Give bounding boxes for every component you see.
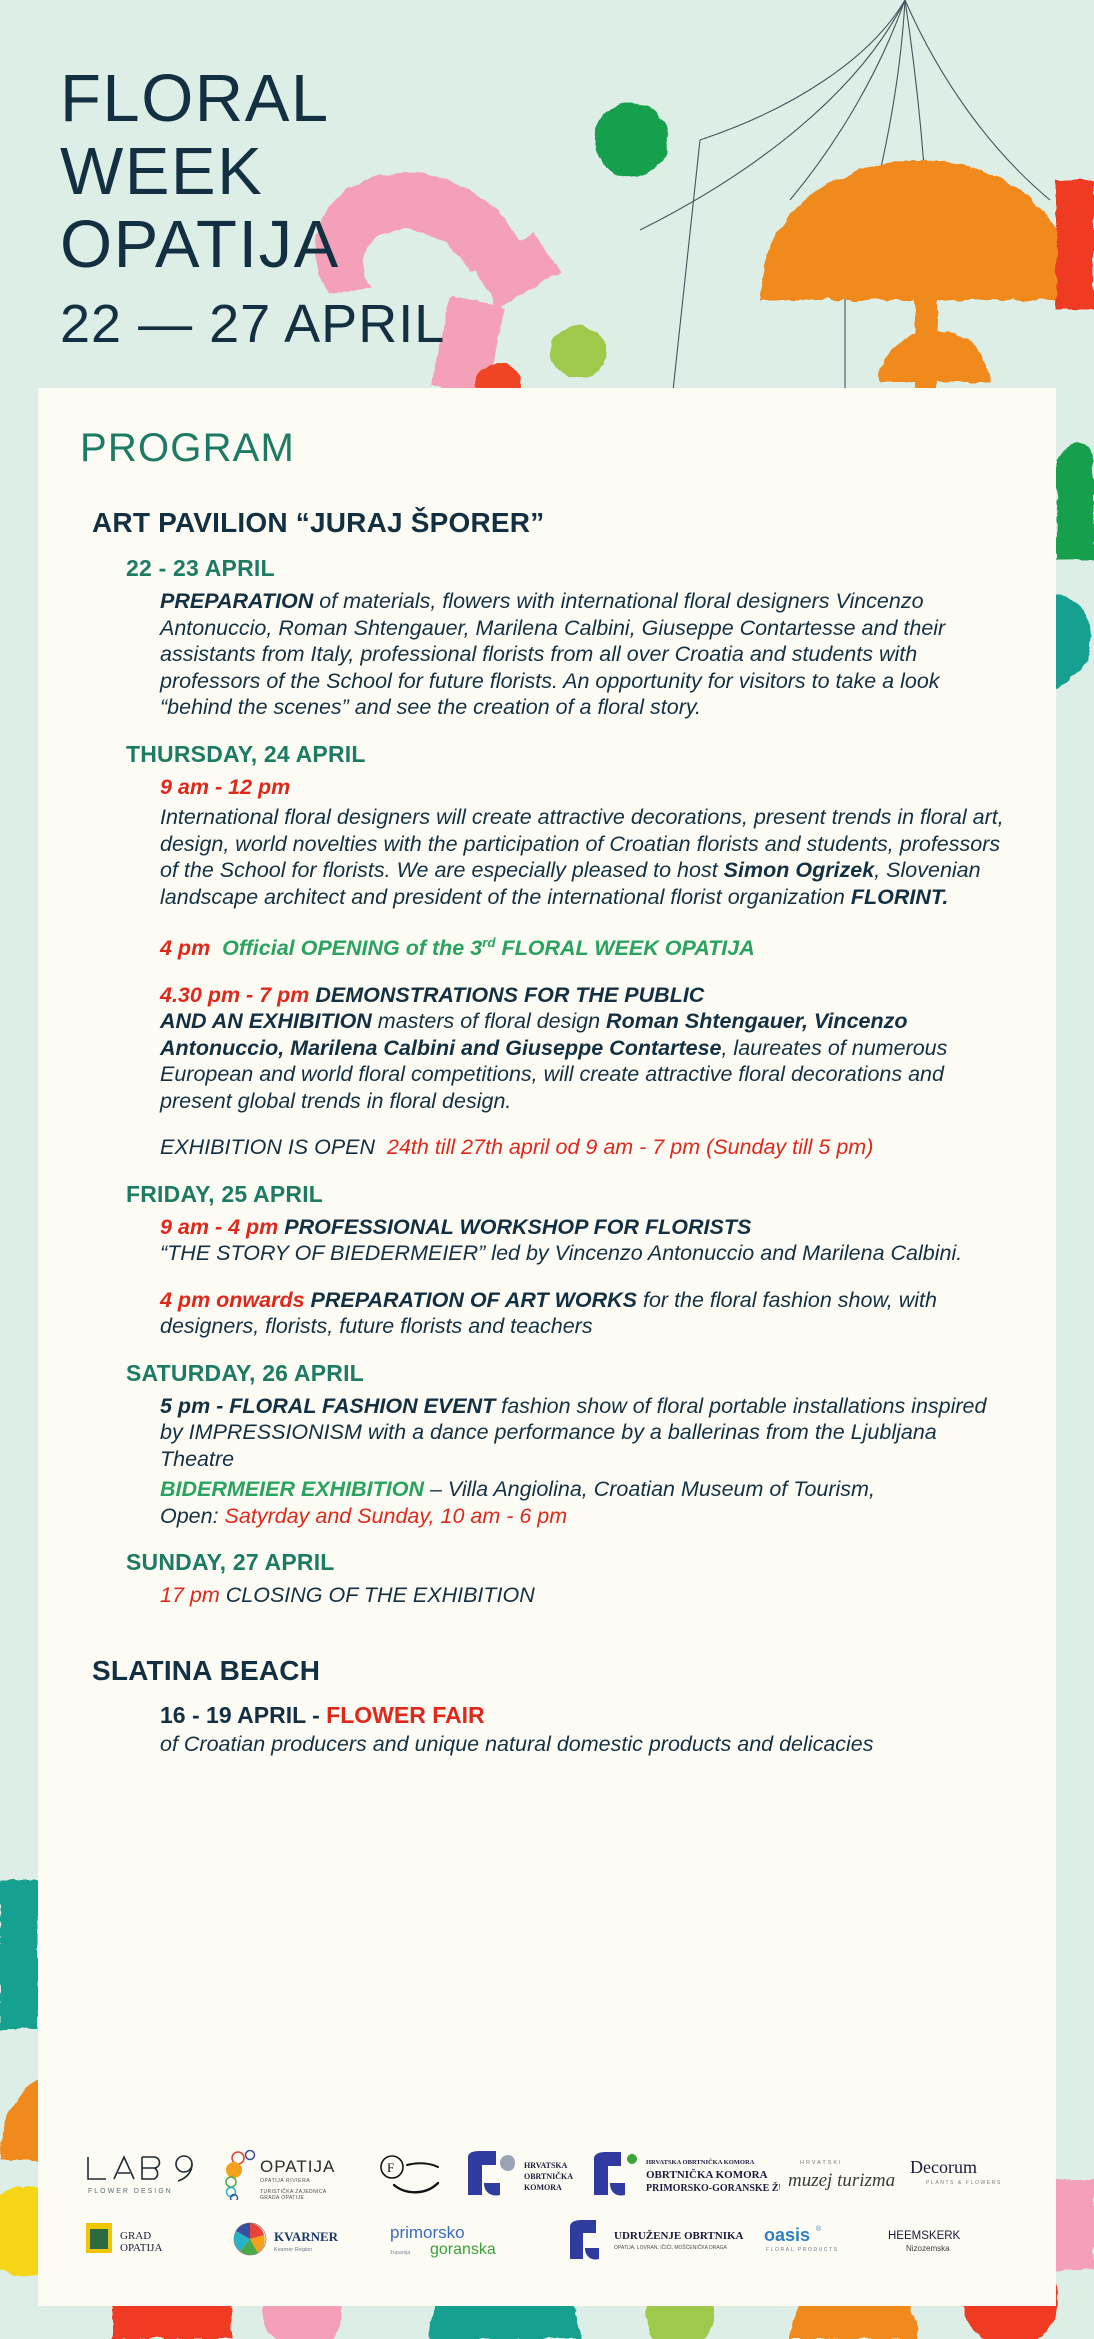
svg-text:goranska: goranska: [430, 2241, 496, 2258]
bidermeier-label: BIDERMEIER EXHIBITION: [160, 1477, 424, 1501]
svg-text:Decorum: Decorum: [910, 2157, 977, 2177]
sponsor-logos: FLOWER DESIGN OPATIJA OPATIJA RIVIERA TU…: [80, 2148, 1014, 2280]
svg-text:OBRTNIČKA KOMORA: OBRTNIČKA KOMORA: [646, 2168, 768, 2181]
svg-text:HRVATSKA: HRVATSKA: [524, 2161, 568, 2170]
svg-text:HRVATSKI: HRVATSKI: [800, 2160, 843, 2166]
opatija-tourist-board-logo: OPATIJA OPATIJA RIVIERA TURISTIČKA ZAJED…: [222, 2149, 372, 2199]
grad-opatija-logo: GRAD OPATIJA: [80, 2215, 228, 2265]
day-group-saturday: SATURDAY, 26 APRIL 5 pm - FLORAL FASHION…: [126, 1360, 1014, 1530]
svg-text:OPATIJA: OPATIJA: [260, 2157, 335, 2176]
udruzenje-obrtnika-logo: UDRUŽENJE OBRTNIKA OPATIJA, LOVRAN, IČIĆ…: [564, 2215, 760, 2265]
day-label-friday: FRIDAY, 25 APRIL: [126, 1181, 1014, 1208]
svg-text:HRVATSKA OBRTNIČKA KOMORA: HRVATSKA OBRTNIČKA KOMORA: [646, 2158, 755, 2166]
svg-text:GRAD: GRAD: [120, 2230, 151, 2242]
friday-preparation: 4 pm onwards PREPARATION OF ART WORKS fo…: [160, 1287, 1014, 1340]
thursday-guest-name: Simon Ogrizek: [724, 858, 875, 882]
bidermeier-open-label: Open:: [160, 1504, 225, 1528]
opening-ordinal: rd: [482, 935, 495, 950]
svg-text:oasis: oasis: [764, 2225, 810, 2245]
friday-workshop: 9 am - 4 pm PROFESSIONAL WORKSHOP FOR FL…: [160, 1214, 1014, 1267]
svg-text:TURISTIČKA ZAJEDNICA: TURISTIČKA ZAJEDNICA: [260, 2188, 327, 2195]
svg-text:županija: županija: [390, 2250, 411, 2256]
flower-fair-dates: 16 - 19 APRIL -: [160, 1702, 326, 1728]
bidermeier-open-times: Satyrday and Sunday, 10 am - 6 pm: [225, 1504, 568, 1528]
day-group-thursday: THURSDAY, 24 APRIL 9 am - 12 pm Internat…: [126, 741, 1014, 1161]
saturday-fashion-event: 5 pm - FLORAL FASHION EVENT fashion show…: [160, 1393, 1014, 1473]
oasis-floral-products-logo: oasis ® FLORAL PRODUCTS: [760, 2215, 884, 2265]
primorsko-goranska-zupanija-logo: primorsko županija goranska: [386, 2215, 564, 2265]
svg-text:KVARNER: KVARNER: [274, 2229, 339, 2244]
decorum-logo: Decorum PLANTS & FLOWERS: [908, 2149, 1028, 2199]
svg-text:muzej turizma: muzej turizma: [788, 2170, 895, 2191]
day-label-22-23-april: 22 - 23 APRIL: [126, 555, 1014, 582]
svg-text:PRIMORSKO-GORANSKE ŽUPANIJE: PRIMORSKO-GORANSKE ŽUPANIJE: [646, 2182, 780, 2194]
day-group-friday: FRIDAY, 25 APRIL 9 am - 4 pm PROFESSIONA…: [126, 1181, 1014, 1340]
opening-text-a: Official OPENING of the 3: [222, 936, 482, 960]
svg-text:PLANTS & FLOWERS: PLANTS & FLOWERS: [926, 2180, 1002, 2186]
day-label-sunday: SUNDAY, 27 APRIL: [126, 1549, 1014, 1576]
svg-text:FLORAL PRODUCTS: FLORAL PRODUCTS: [766, 2247, 839, 2253]
svg-text:Kvarner Region: Kvarner Region: [274, 2247, 312, 2253]
kvarner-logo: KVARNER Kvarner Region: [228, 2215, 386, 2265]
friday-preparation-title: PREPARATION OF ART WORKS: [311, 1288, 637, 1312]
svg-text:F: F: [387, 2160, 394, 2175]
demo-title: DEMONSTRATIONS FOR THE PUBLIC: [315, 983, 704, 1007]
svg-text:UDRUŽENJE OBRTNIKA: UDRUŽENJE OBRTNIKA: [614, 2230, 744, 2242]
obrtnicka-komora-pgz-logo: HRVATSKA OBRTNIČKA KOMORA OBRTNIČKA KOMO…: [588, 2149, 780, 2199]
logo-row-1: FLOWER DESIGN OPATIJA OPATIJA RIVIERA TU…: [80, 2148, 1014, 2200]
opening-text-b: FLORAL WEEK OPATIJA: [496, 936, 755, 960]
hrvatski-muzej-turizma-logo: HRVATSKI muzej turizma: [780, 2149, 908, 2199]
svg-text:FLOWER DESIGN: FLOWER DESIGN: [88, 2188, 173, 2195]
thursday-opening-line: 4 pm Official OPENING of the 3rd FLORAL …: [160, 930, 1014, 962]
poster-root: FLORAL WEEK OPATIJA 22 — 27 APRIL PROGRA…: [0, 0, 1094, 2339]
fashion-event-title: 5 pm - FLORAL FASHION EVENT: [160, 1394, 495, 1418]
demo-mid: masters of floral design: [372, 1009, 606, 1033]
demo-title-2: AND AN EXHIBITION: [160, 1009, 372, 1033]
flower-fair-headline: 16 - 19 APRIL - FLOWER FAIR: [160, 1701, 1014, 1729]
program-heading: PROGRAM: [80, 426, 1014, 471]
flower-fair-description: of Croatian producers and unique natural…: [160, 1731, 1014, 1758]
sunday-closing-text: CLOSING OF THE EXHIBITION: [226, 1583, 535, 1607]
svg-text:GRADA OPATIJE: GRADA OPATIJE: [260, 2195, 304, 2200]
thursday-time-2: 4 pm: [160, 936, 210, 960]
thursday-time-1: 9 am - 12 pm: [160, 775, 290, 799]
thursday-organization: FLORINT.: [851, 885, 949, 909]
logo-row-2: GRAD OPATIJA KVARNER Kvarner Region: [80, 2214, 1014, 2266]
thursday-morning-time: 9 am - 12 pm: [160, 774, 1014, 801]
venue-slatina-beach: SLATINA BEACH: [92, 1655, 1014, 1687]
friday-workshop-text: “THE STORY OF BIEDERMEIER” led by Vincen…: [160, 1241, 962, 1265]
hrvatska-obrtnicka-komora-logo: HRVATSKA OBRTNIČKA KOMORA: [462, 2149, 588, 2199]
venue-art-pavilion: ART PAVILION “JURAJ ŠPORER”: [92, 507, 1014, 539]
program-card: PROGRAM ART PAVILION “JURAJ ŠPORER” 22 -…: [38, 388, 1056, 2306]
thursday-time-3: 4.30 pm - 7 pm: [160, 983, 309, 1007]
exhibition-open-label: EXHIBITION IS OPEN: [160, 1135, 375, 1159]
exhibition-open-line: EXHIBITION IS OPEN 24th till 27th april …: [160, 1134, 1014, 1161]
heemskerk-logo: HEEMSKERK Nizozemska: [884, 2215, 1004, 2265]
day-group-sunday: SUNDAY, 27 APRIL 17 pm CLOSING OF THE EX…: [126, 1549, 1014, 1609]
bidermeier-block: BIDERMEIER EXHIBITION – Villa Angiolina,…: [160, 1476, 1014, 1529]
svg-text:KOMORA: KOMORA: [524, 2183, 562, 2192]
preparation-lead: PREPARATION: [160, 589, 313, 613]
day-group-flower-fair: 16 - 19 APRIL - FLOWER FAIR of Croatian …: [126, 1701, 1014, 1758]
day-group-22-23-april: 22 - 23 APRIL PREPARATION of materials, …: [126, 555, 1014, 721]
thursday-morning-paragraph: International floral designers will crea…: [160, 804, 1014, 910]
thursday-demonstrations: 4.30 pm - 7 pm DEMONSTRATIONS FOR THE PU…: [160, 982, 1014, 1115]
exhibition-open-times: 24th till 27th april od 9 am - 7 pm (Sun…: [387, 1135, 873, 1159]
svg-text:OPATIJA RIVIERA: OPATIJA RIVIERA: [260, 2178, 310, 2184]
friday-time-1: 9 am - 4 pm: [160, 1215, 284, 1239]
preparation-paragraph: PREPARATION of materials, flowers with i…: [160, 588, 1014, 721]
svg-text:OPATIJA: OPATIJA: [120, 2242, 162, 2254]
svg-text:primorsko: primorsko: [390, 2223, 465, 2242]
svg-text:OBRTNIČKA: OBRTNIČKA: [524, 2171, 573, 2181]
sunday-closing: 17 pm CLOSING OF THE EXHIBITION: [160, 1582, 1014, 1609]
svg-text:OPATIJA, LOVRAN, IČIĆI, MOŠĆEN: OPATIJA, LOVRAN, IČIĆI, MOŠĆENIČKA DRAGA: [614, 2244, 728, 2251]
florint-logo: F: [372, 2149, 462, 2199]
svg-text:HEEMSKERK: HEEMSKERK: [888, 2230, 961, 2242]
flower-fair-name: FLOWER FAIR: [326, 1702, 484, 1728]
lab9-logo: FLOWER DESIGN: [80, 2149, 222, 2199]
day-label-thursday: THURSDAY, 24 APRIL: [126, 741, 1014, 768]
bidermeier-text: – Villa Angiolina, Croatian Museum of To…: [424, 1477, 875, 1501]
friday-workshop-title: PROFESSIONAL WORKSHOP FOR FLORISTS: [284, 1215, 751, 1239]
svg-text:Nizozemska: Nizozemska: [906, 2244, 950, 2253]
svg-text:®: ®: [816, 2225, 822, 2233]
friday-time-2: 4 pm onwards: [160, 1288, 311, 1312]
day-label-saturday: SATURDAY, 26 APRIL: [126, 1360, 1014, 1387]
sunday-time-1: 17 pm: [160, 1583, 226, 1607]
